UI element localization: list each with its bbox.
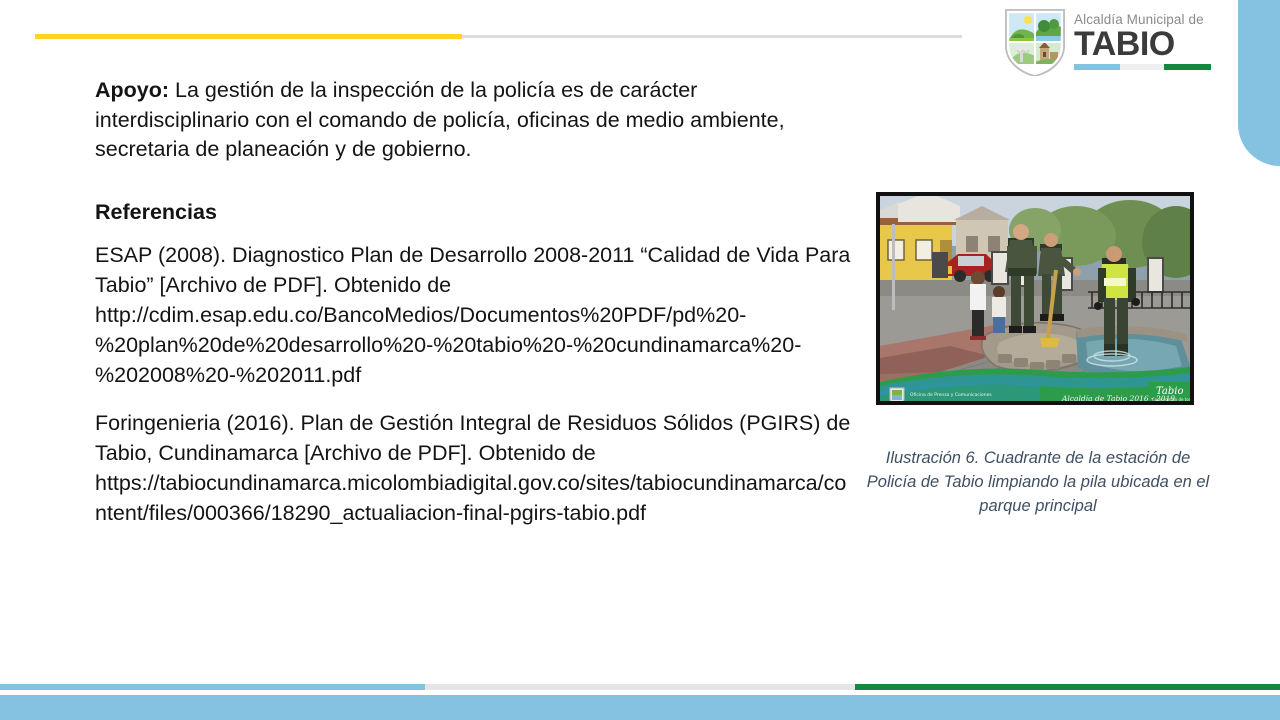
support-label: Apoyo:	[95, 78, 169, 102]
illustration-caption: Ilustración 6. Cuadrante de la estación …	[864, 446, 1212, 518]
illustration-photo: Oficina de Prensa y Comunicaciones Tabio…	[876, 192, 1194, 405]
plaza-scene-graphic: Oficina de Prensa y Comunicaciones Tabio…	[880, 196, 1190, 401]
paragraph-spacer	[95, 165, 855, 198]
reference-item: ESAP (2008). Diagnostico Plan de Desarro…	[95, 240, 855, 390]
tabio-logo: Alcaldía Municipal de TABIO	[1004, 6, 1212, 78]
bottom-blue-band	[0, 695, 1280, 720]
logo-bar-green	[1164, 64, 1211, 70]
bottom-rule-gray	[425, 684, 855, 690]
slide-text-column: Apoyo: La gestión de la inspección de la…	[95, 76, 855, 546]
tabio-coat-of-arms-icon	[1004, 8, 1066, 76]
right-blue-tab-decoration	[1238, 0, 1280, 166]
top-accent-rule-yellow	[35, 34, 462, 39]
references-heading: Referencias	[95, 198, 855, 226]
svg-text:Alcaldía de Tabio 2016 - 2019: Alcaldía de Tabio 2016 - 2019	[1061, 394, 1175, 401]
bottom-accent-rule	[0, 684, 1280, 690]
illustration-photo-inner: Oficina de Prensa y Comunicaciones Tabio…	[880, 196, 1190, 401]
svg-text:Oficina de Prensa y Comunicaci: Oficina de Prensa y Comunicaciones	[910, 392, 992, 398]
logo-wordmark: TABIO	[1074, 27, 1214, 61]
logo-bar-blue	[1074, 64, 1120, 70]
support-text: La gestión de la inspección de la policí…	[95, 78, 785, 161]
bottom-rule-green	[855, 684, 1280, 690]
support-paragraph: Apoyo: La gestión de la inspección de la…	[95, 76, 855, 165]
bottom-rule-blue	[0, 684, 425, 690]
logo-bar-gray	[1120, 64, 1164, 70]
reference-item: Foringenieria (2016). Plan de Gestión In…	[95, 408, 855, 528]
logo-tricolor-bar	[1074, 64, 1211, 70]
top-accent-rule-gray	[462, 35, 962, 38]
